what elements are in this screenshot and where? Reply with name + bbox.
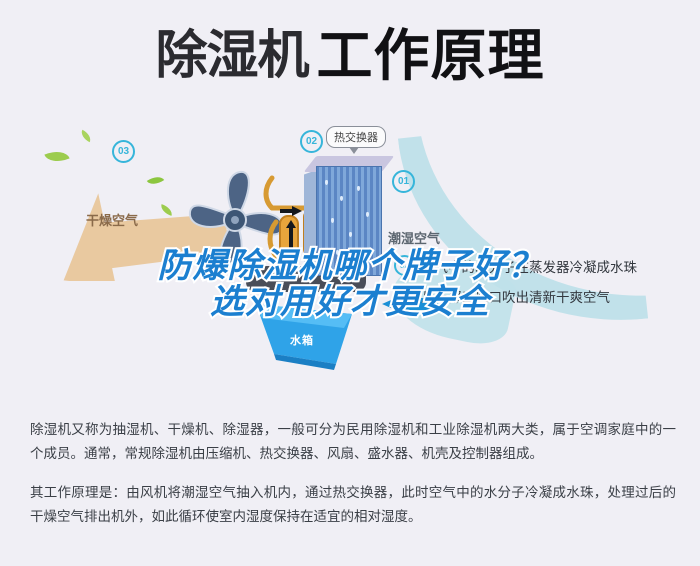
step-text: 从上部出风口吹出清新干爽空气 [421, 286, 610, 306]
water-tank-icon: 水箱 [252, 298, 360, 376]
page-title: 除湿机工作原理 [0, 28, 700, 84]
step-badge: 02 [394, 255, 415, 276]
body-copy: 除湿机又称为抽湿机、干燥机、除湿器，一般可分为民用除湿机和工业除湿机两大类，属于… [30, 418, 676, 529]
label-humid-air: 潮湿空气 [388, 228, 440, 247]
heat-exchanger-icon [316, 166, 388, 278]
badge-01-humid-air: 01 [392, 170, 415, 193]
step-list: 02 空气中的水分子在蒸发器冷凝成水珠 03 从上部出风口吹出清新干爽空气 [394, 255, 694, 315]
badge-02-heat-exchanger: 02 [300, 130, 323, 153]
badge-03-dry-air: 03 [112, 140, 135, 163]
leaf-icon [79, 130, 93, 142]
heat-exchanger-fins [316, 166, 382, 276]
label-water-tank: 水箱 [290, 332, 314, 348]
body-paragraph-1: 除湿机又称为抽湿机、干燥机、除湿器，一般可分为民用除湿机和工业除湿机两大类，属于… [30, 418, 676, 465]
step-badge: 03 [394, 285, 415, 306]
body-paragraph-2: 其工作原理是：由风机将潮湿空气抽入机内，通过热交换器，此时空气中的水分子冷凝成水… [30, 481, 676, 528]
page-title-part2: 工作原理 [317, 24, 545, 87]
infographic-page: 除湿机工作原理 03 干燥空气 [0, 0, 700, 566]
label-dry-air: 干燥空气 [86, 210, 138, 229]
list-item: 02 空气中的水分子在蒸发器冷凝成水珠 [394, 255, 694, 276]
list-item: 03 从上部出风口吹出清新干爽空气 [394, 285, 694, 306]
bubble-heat-exchanger: 热交换器 [326, 126, 386, 148]
step-text: 空气中的水分子在蒸发器冷凝成水珠 [421, 256, 637, 276]
page-title-part1: 除湿机 [155, 27, 308, 85]
